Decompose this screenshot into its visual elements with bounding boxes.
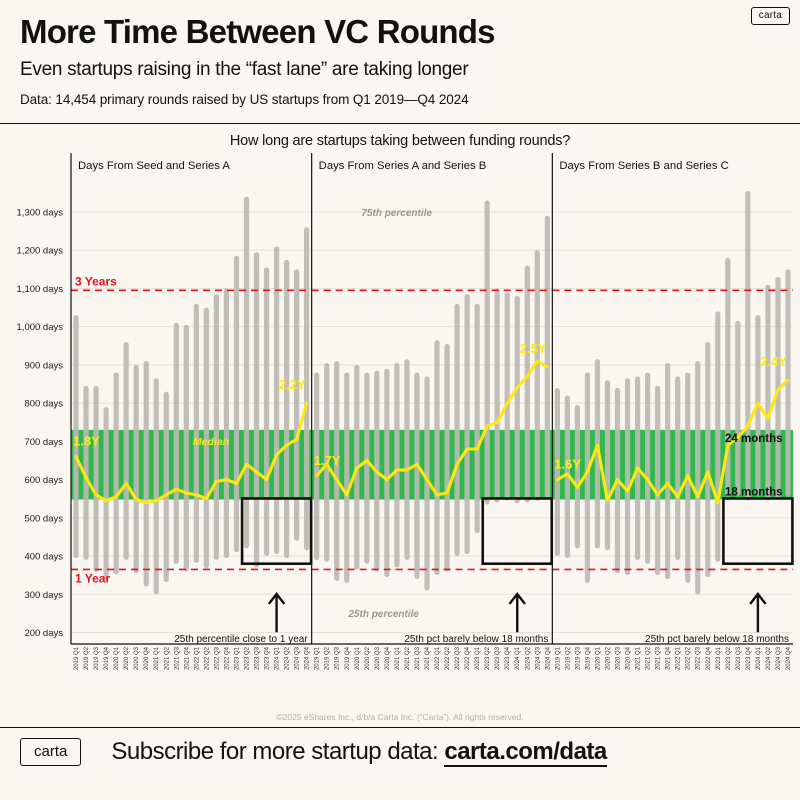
x-axis-tick-label: 2022 Q1: [676, 646, 682, 670]
panel-annotation: 25th pct barely below 18 months: [645, 634, 789, 645]
median-start-label: 1.8Y: [73, 433, 100, 448]
x-axis-tick-label: 2019 Q3: [94, 646, 100, 670]
median-start-label: 1.6Y: [554, 456, 581, 471]
median-start-label: 1.7Y: [314, 452, 341, 467]
x-axis-tick-label: 2020 Q4: [144, 646, 150, 670]
x-axis-tick-label: 2023 Q4: [265, 646, 271, 670]
carta-footer-logo: carta: [20, 738, 81, 766]
x-axis-tick-label: 2021 Q1: [636, 646, 642, 670]
percentile-range-bar: [214, 294, 219, 560]
percentile-range-bar: [394, 363, 399, 568]
x-axis-tick-label: 2019 Q4: [104, 646, 110, 670]
chart-plot-area: 200 days300 days400 days500 days600 days…: [0, 151, 800, 711]
x-axis-tick-label: 2024 Q2: [285, 646, 291, 670]
percentile-range-bar: [605, 380, 610, 550]
percentile-range-bar: [705, 342, 710, 577]
x-axis-tick-label: 2020 Q3: [134, 646, 140, 670]
percentile-range-bar: [655, 386, 660, 575]
panel-title: Days From Series A and Series B: [319, 160, 487, 172]
percentile-range-bar: [735, 321, 740, 496]
x-axis-tick-label: 2020 Q1: [355, 646, 361, 670]
percentile-range-bar: [244, 196, 249, 548]
reference-label-3-years: 3 Years: [75, 274, 117, 288]
y-axis-tick-label: 1,200 days: [17, 245, 64, 256]
page-title: More Time Between VC Rounds: [20, 14, 780, 50]
percentile-range-bar: [585, 372, 590, 582]
x-axis-tick-label: 2023 Q2: [485, 646, 491, 670]
x-axis-tick-label: 2024 Q1: [275, 646, 281, 670]
x-axis-tick-label: 2021 Q3: [656, 646, 662, 670]
percentile-range-bar: [475, 303, 480, 532]
panel-annotation: 25th percentile close to 1 year: [174, 634, 308, 645]
y-axis-tick-label: 800 days: [24, 398, 63, 409]
percentile-range-bar: [144, 361, 149, 587]
percentile-range-bar: [164, 391, 169, 581]
x-axis-tick-label: 2022 Q1: [194, 646, 200, 670]
footer-bar: carta Subscribe for more startup data: c…: [0, 728, 800, 766]
y-axis-tick-label: 700 days: [24, 436, 63, 447]
x-axis-tick-label: 2024 Q2: [525, 646, 531, 670]
percentile-range-bar: [695, 361, 700, 594]
x-axis-tick-label: 2020 Q2: [365, 646, 371, 670]
x-axis-tick-label: 2021 Q2: [405, 646, 411, 670]
percentile-range-bar: [284, 259, 289, 557]
percentile-range-bar: [535, 250, 540, 500]
x-axis-tick-label: 2019 Q1: [315, 646, 321, 670]
percentile-range-bar: [525, 265, 530, 502]
copyright-note: ©2025 eShares Inc., d/b/a Carta Inc. (“C…: [0, 712, 800, 722]
percentile-range-bar: [745, 191, 750, 501]
x-axis-tick-label: 2019 Q2: [325, 646, 331, 670]
x-axis-tick-label: 2019 Q4: [585, 646, 591, 670]
y-axis-tick-label: 300 days: [24, 589, 63, 600]
y-axis-tick-label: 1,000 days: [17, 322, 64, 333]
percentile-range-bar: [384, 368, 389, 576]
percentile-range-bar: [485, 200, 490, 504]
x-axis-tick-label: 2022 Q1: [435, 646, 441, 670]
x-axis-tick-label: 2020 Q1: [114, 646, 120, 670]
legend-75th-percentile: 75th percentile: [361, 207, 432, 218]
x-axis-tick-label: 2023 Q2: [244, 646, 250, 670]
x-axis-tick-label: 2021 Q3: [174, 646, 180, 670]
x-axis-tick-label: 2020 Q1: [595, 646, 601, 670]
percentile-range-bar: [364, 372, 369, 563]
panel-title: Days From Series B and Series C: [559, 160, 729, 172]
percentile-range-bar: [124, 342, 129, 560]
x-axis-tick-label: 2019 Q2: [565, 646, 571, 670]
percentile-range-bar: [234, 256, 239, 552]
percentile-range-bar: [103, 407, 108, 579]
y-axis-tick-label: 600 days: [24, 475, 63, 486]
x-axis-tick-label: 2024 Q1: [756, 646, 762, 670]
y-axis-tick-label: 1,100 days: [17, 284, 64, 295]
subscribe-cta-text: Subscribe for more startup data:: [111, 738, 444, 765]
x-axis-tick-label: 2021 Q2: [646, 646, 652, 670]
y-axis-tick-label: 1,300 days: [17, 207, 64, 218]
percentile-range-bar: [294, 269, 299, 540]
x-axis-tick-label: 2021 Q1: [395, 646, 401, 670]
median-end-label: 2.4Y: [760, 354, 787, 369]
reference-label-1-year: 1 Year: [75, 571, 110, 585]
percentile-range-bar: [264, 267, 269, 556]
x-axis-tick-label: 2024 Q2: [766, 646, 772, 670]
x-axis-tick-label: 2023 Q4: [746, 646, 752, 670]
percentile-range-bar: [625, 378, 630, 575]
header-divider: [0, 123, 800, 124]
subscribe-cta-link[interactable]: carta.com/data: [444, 738, 606, 767]
x-axis-tick-label: 2019 Q3: [575, 646, 581, 670]
x-axis-tick-label: 2020 Q4: [385, 646, 391, 670]
x-axis-tick-label: 2019 Q1: [555, 646, 561, 670]
x-axis-tick-label: 2023 Q4: [505, 646, 511, 670]
x-axis-tick-label: 2021 Q4: [184, 646, 190, 670]
x-axis-tick-label: 2024 Q4: [786, 646, 792, 670]
x-axis-tick-label: 2023 Q1: [234, 646, 240, 670]
percentile-range-bar: [414, 372, 419, 578]
x-axis-tick-label: 2021 Q4: [425, 646, 431, 670]
percentile-range-bar: [194, 303, 199, 562]
panel-title: Days From Seed and Series A: [78, 160, 230, 172]
x-axis-tick-label: 2019 Q4: [345, 646, 351, 670]
percentile-range-bar: [344, 372, 349, 582]
x-axis-tick-label: 2022 Q3: [214, 646, 220, 670]
x-axis-tick-label: 2023 Q3: [255, 646, 261, 670]
x-axis-tick-label: 2024 Q4: [545, 646, 551, 670]
percentile-range-bar: [665, 363, 670, 579]
subscribe-cta[interactable]: Subscribe for more startup data: carta.c…: [111, 738, 606, 766]
x-axis-tick-label: 2022 Q2: [686, 646, 692, 670]
legend-median: Median: [193, 436, 229, 448]
percentile-range-bar: [464, 294, 469, 554]
percentile-range-bar: [765, 284, 770, 500]
percentile-range-bar: [404, 359, 409, 560]
percentile-range-bar: [93, 386, 98, 572]
x-axis-tick-label: 2021 Q2: [164, 646, 170, 670]
x-axis-tick-label: 2024 Q4: [305, 646, 311, 670]
x-axis-tick-label: 2022 Q3: [696, 646, 702, 670]
x-axis-tick-label: 2019 Q2: [84, 646, 90, 670]
percentile-range-bar: [715, 311, 720, 561]
x-axis-tick-label: 2019 Q1: [74, 646, 80, 670]
x-axis-tick-label: 2020 Q2: [124, 646, 130, 670]
percentile-range-bar: [505, 292, 510, 500]
x-axis-tick-label: 2021 Q1: [154, 646, 160, 670]
x-axis-tick-label: 2022 Q4: [465, 646, 471, 670]
x-axis-tick-label: 2021 Q4: [666, 646, 672, 670]
chart-title: How long are startups taking between fun…: [0, 133, 800, 149]
x-axis-tick-label: 2023 Q3: [495, 646, 501, 670]
x-axis-tick-label: 2024 Q3: [295, 646, 301, 670]
percentile-range-bar: [495, 288, 500, 502]
x-axis-tick-label: 2020 Q2: [605, 646, 611, 670]
percentile-range-bar: [675, 376, 680, 560]
percentile-range-bar: [555, 387, 560, 555]
x-axis-tick-label: 2023 Q1: [475, 646, 481, 670]
x-axis-tick-label: 2023 Q3: [736, 646, 742, 670]
y-axis-tick-label: 200 days: [24, 628, 63, 639]
percentile-range-bar: [575, 405, 580, 548]
y-axis-tick-label: 900 days: [24, 360, 63, 371]
percentile-range-bar: [515, 296, 520, 503]
page-subtitle: Even startups raising in the “fast lane”…: [20, 59, 780, 81]
page-header: carta More Time Between VC Rounds Even s…: [0, 0, 800, 113]
median-end-label: 2.5Y: [520, 340, 547, 355]
percentile-range-bar: [274, 246, 279, 554]
x-axis-tick-label: 2024 Q3: [776, 646, 782, 670]
x-axis-tick-label: 2022 Q3: [455, 646, 461, 670]
band-label-18-months: 18 months: [725, 486, 783, 498]
percentile-range-bar: [184, 324, 189, 571]
x-axis-tick-label: 2021 Q3: [415, 646, 421, 670]
x-axis-tick-label: 2019 Q3: [335, 646, 341, 670]
percentile-range-bar: [154, 378, 159, 594]
percentile-range-bar: [114, 372, 119, 574]
x-axis-tick-label: 2024 Q3: [535, 646, 541, 670]
x-axis-tick-label: 2023 Q2: [726, 646, 732, 670]
x-axis-tick-label: 2020 Q3: [616, 646, 622, 670]
percentile-range-bar: [434, 340, 439, 575]
carta-logo-badge: carta: [751, 7, 790, 25]
percentile-range-bar: [134, 365, 139, 573]
percentile-range-bar: [444, 343, 449, 570]
x-axis-tick-label: 2020 Q3: [375, 646, 381, 670]
percentile-range-bar: [545, 215, 550, 499]
percentile-range-bar: [454, 303, 459, 555]
x-axis-tick-label: 2022 Q2: [445, 646, 451, 670]
x-axis-tick-label: 2022 Q2: [204, 646, 210, 670]
median-end-label: 2.2Y: [279, 377, 306, 392]
percentile-range-bar: [334, 361, 339, 581]
x-axis-tick-label: 2022 Q4: [224, 646, 230, 670]
x-axis-tick-label: 2020 Q4: [626, 646, 632, 670]
percentile-range-bar: [645, 372, 650, 563]
band-label-24-months: 24 months: [725, 433, 783, 445]
percentile-range-bar: [254, 252, 259, 567]
x-axis-tick-label: 2022 Q4: [706, 646, 712, 670]
legend-25th-percentile: 25th percentile: [347, 609, 419, 620]
x-axis-tick-label: 2024 Q1: [515, 646, 521, 670]
percentile-range-bar: [224, 288, 229, 558]
percentile-range-bar: [174, 322, 179, 563]
data-source-note: Data: 14,454 primary rounds raised by US…: [20, 92, 780, 107]
panel-annotation: 25th pct barely below 18 months: [404, 634, 548, 645]
x-axis-tick-label: 2023 Q1: [716, 646, 722, 670]
y-axis-tick-label: 500 days: [24, 513, 63, 524]
y-axis-tick-label: 400 days: [24, 551, 63, 562]
